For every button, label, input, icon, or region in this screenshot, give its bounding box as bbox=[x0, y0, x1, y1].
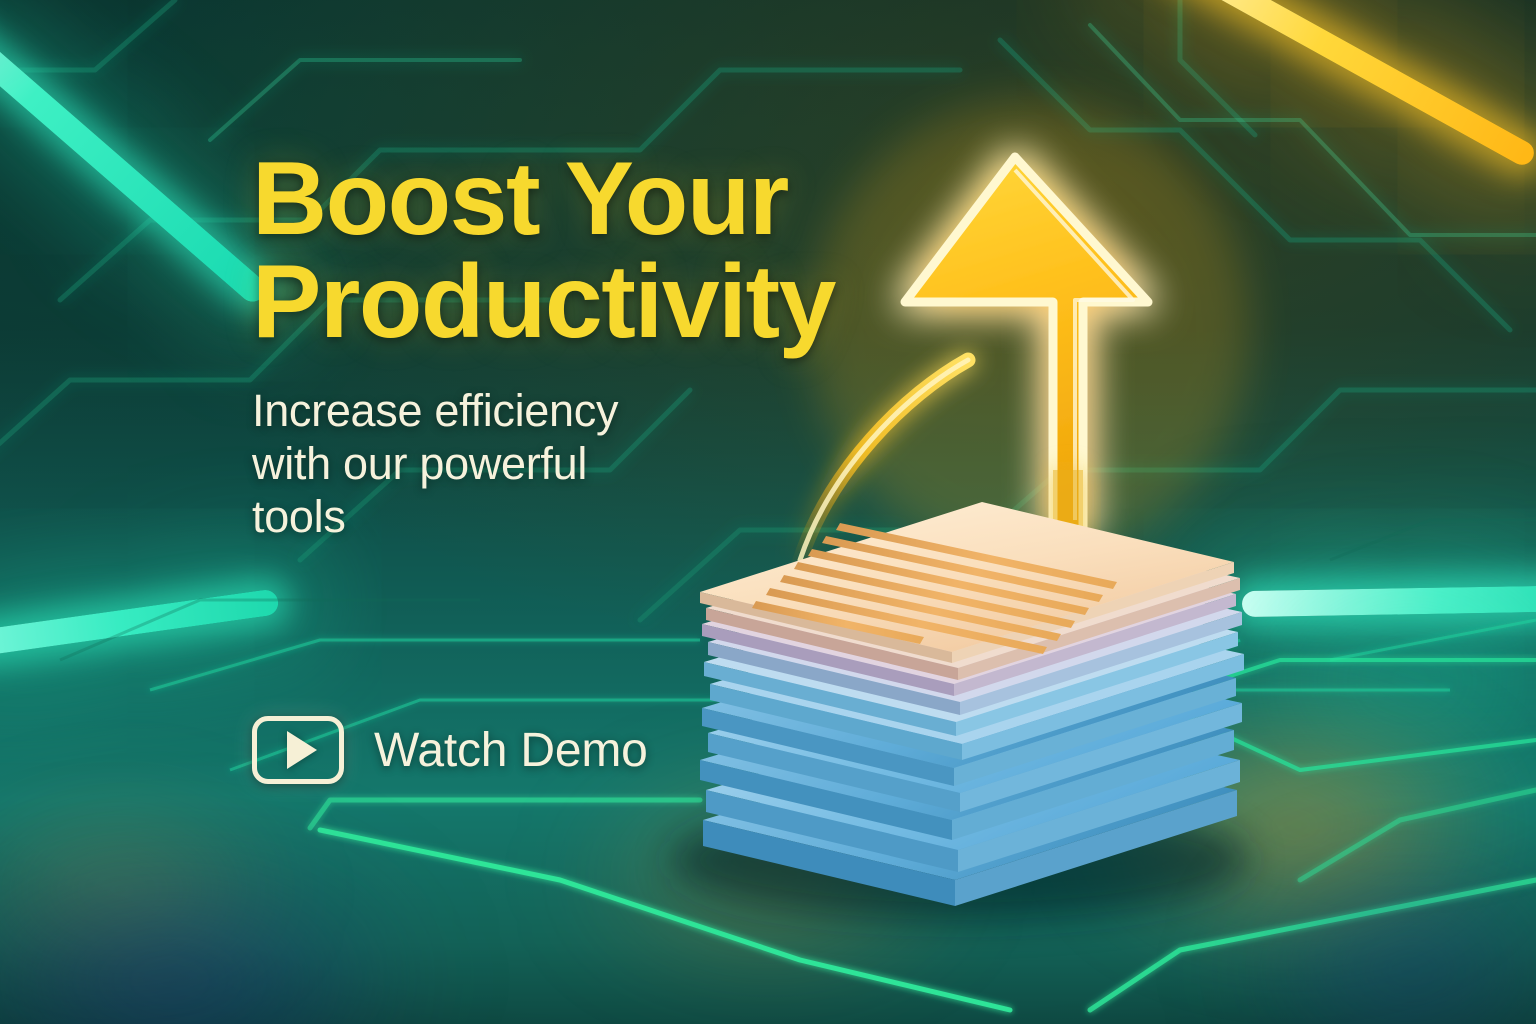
watch-demo-label: Watch Demo bbox=[374, 723, 648, 778]
page-title: Boost Your Productivity bbox=[252, 148, 952, 354]
watch-demo-button[interactable]: Watch Demo bbox=[252, 716, 648, 784]
page-subtitle: Increase efficiency with our powerful to… bbox=[252, 384, 952, 543]
hero-banner: Boost Your Productivity Increase efficie… bbox=[0, 0, 1536, 1024]
play-triangle bbox=[287, 731, 317, 769]
hero-content: Boost Your Productivity Increase efficie… bbox=[252, 148, 952, 543]
play-icon[interactable] bbox=[252, 716, 344, 784]
